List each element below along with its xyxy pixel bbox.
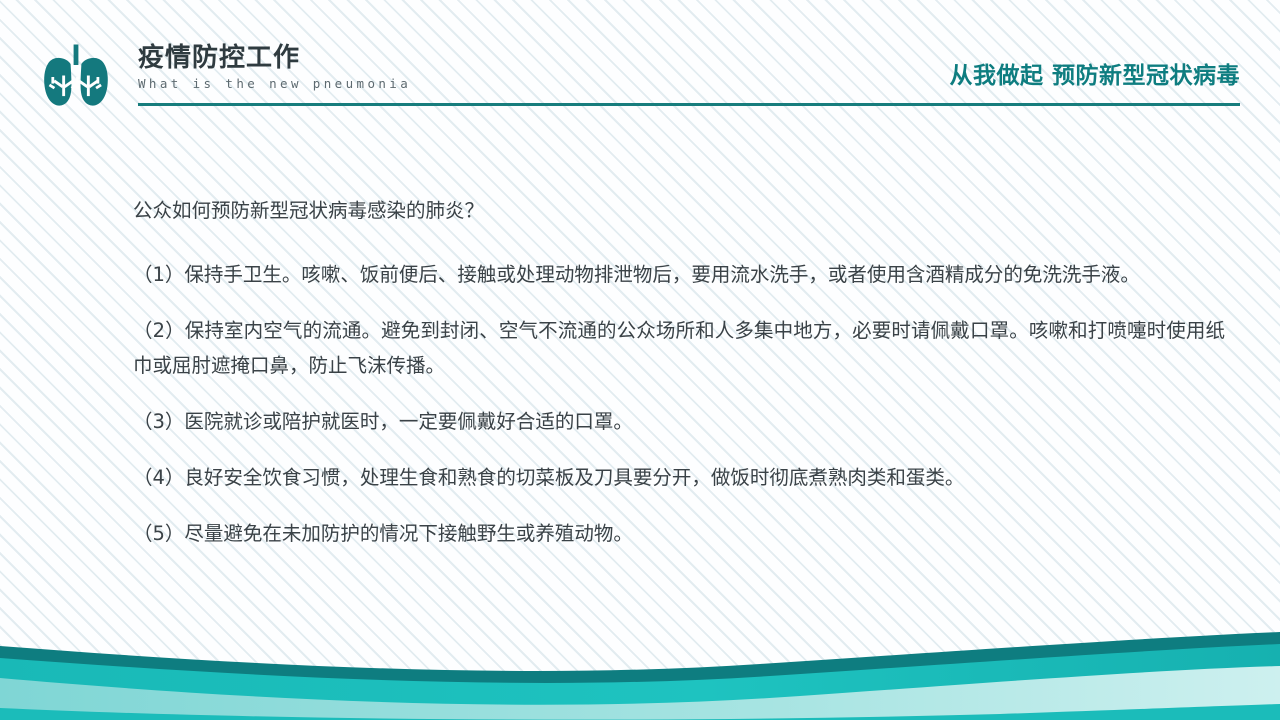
content-body: 公众如何预防新型冠状病毒感染的肺炎？ （1）保持手卫生。咳嗽、饭前便后、接触或处… bbox=[133, 193, 1225, 551]
content-question: 公众如何预防新型冠状病毒感染的肺炎？ bbox=[133, 193, 1225, 228]
header-title-block: 疫情防控工作 What is the new pneumonia bbox=[138, 42, 411, 91]
content-item-2: （2）保持室内空气的流通。避免到封闭、空气不流通的公众场所和人多集中地方，必要时… bbox=[133, 313, 1225, 383]
header-divider bbox=[138, 103, 1240, 106]
content-item-5: （5）尽量避免在未加防护的情况下接触野生或养殖动物。 bbox=[133, 516, 1225, 551]
header-slogan: 从我做起 预防新型冠状病毒 bbox=[949, 56, 1240, 90]
content-item-1: （1）保持手卫生。咳嗽、饭前便后、接触或处理动物排泄物后，要用流水洗手，或者使用… bbox=[133, 257, 1225, 292]
page-subtitle: What is the new pneumonia bbox=[138, 76, 411, 91]
slide-header: 疫情防控工作 What is the new pneumonia 从我做起 预防… bbox=[0, 0, 1280, 120]
content-item-3: （3）医院就诊或陪护就医时，一定要佩戴好合适的口罩。 bbox=[133, 404, 1225, 439]
content-item-4: （4）良好安全饮食习惯，处理生食和熟食的切菜板及刀具要分开，做饭时彻底煮熟肉类和… bbox=[133, 460, 1225, 495]
page-title: 疫情防控工作 bbox=[138, 42, 411, 74]
slide-root: 疫情防控工作 What is the new pneumonia 从我做起 预防… bbox=[0, 0, 1280, 720]
lungs-icon bbox=[42, 42, 110, 108]
wave-decoration bbox=[0, 620, 1280, 720]
